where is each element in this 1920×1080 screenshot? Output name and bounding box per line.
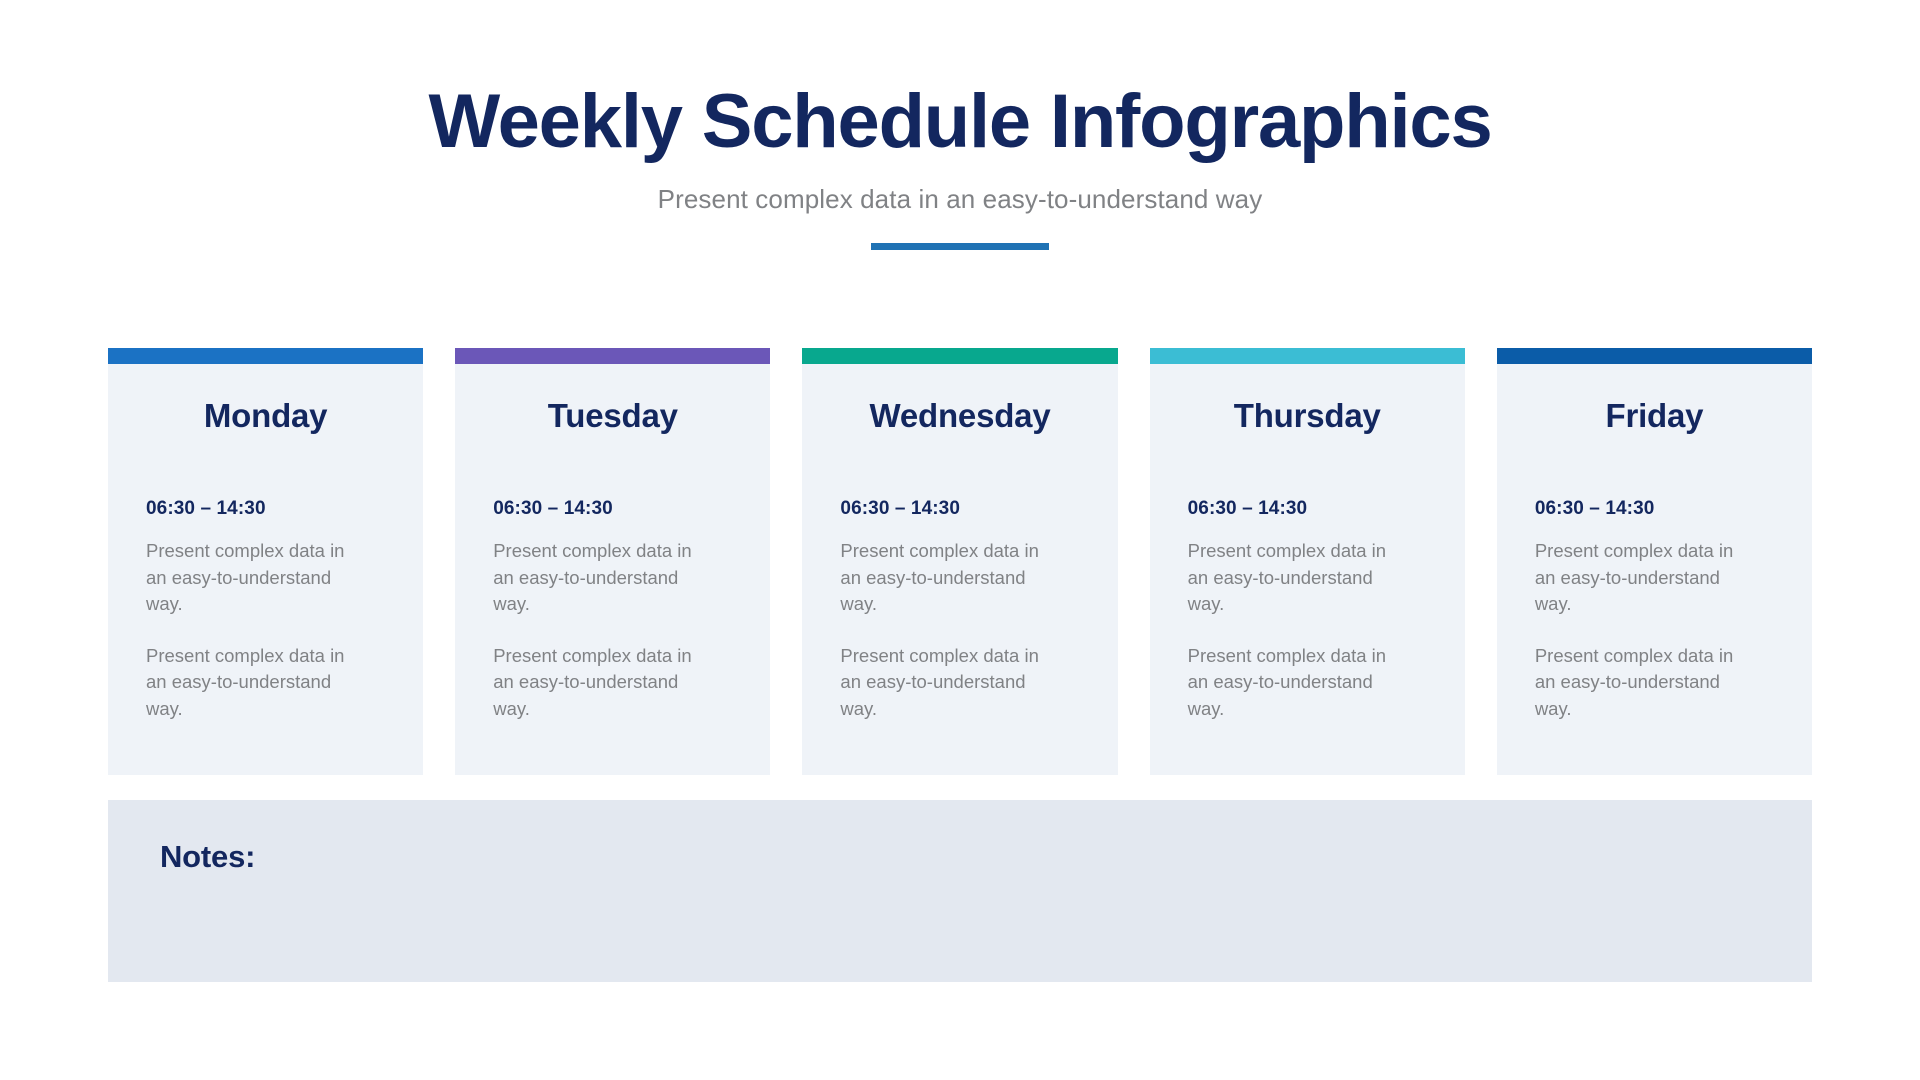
day-card-friday[interactable]: Friday 06:30 – 14:30 Present complex dat… — [1497, 348, 1812, 775]
day-note-1: Present complex data in an easy-to-under… — [493, 538, 708, 617]
day-note-2: Present complex data in an easy-to-under… — [840, 643, 1055, 722]
day-card-body: Tuesday 06:30 – 14:30 Present complex da… — [455, 364, 770, 775]
day-card-tuesday[interactable]: Tuesday 06:30 – 14:30 Present complex da… — [455, 348, 770, 775]
day-title: Friday — [1535, 396, 1774, 436]
day-cards-row: Monday 06:30 – 14:30 Present complex dat… — [108, 348, 1812, 775]
day-accent-bar — [108, 348, 423, 364]
day-note-2: Present complex data in an easy-to-under… — [1188, 643, 1403, 722]
day-accent-bar — [1150, 348, 1465, 364]
day-accent-bar — [1497, 348, 1812, 364]
slide-header: Weekly Schedule Infographics Present com… — [0, 82, 1920, 250]
day-card-monday[interactable]: Monday 06:30 – 14:30 Present complex dat… — [108, 348, 423, 775]
day-note-1: Present complex data in an easy-to-under… — [1535, 538, 1750, 617]
day-note-2: Present complex data in an easy-to-under… — [146, 643, 361, 722]
day-accent-bar — [455, 348, 770, 364]
day-time-range: 06:30 – 14:30 — [1188, 498, 1427, 521]
day-accent-bar — [802, 348, 1117, 364]
day-card-body: Wednesday 06:30 – 14:30 Present complex … — [802, 364, 1117, 775]
day-title: Wednesday — [840, 396, 1079, 436]
day-note-1: Present complex data in an easy-to-under… — [840, 538, 1055, 617]
notes-panel[interactable]: Notes: — [108, 800, 1812, 982]
day-card-wednesday[interactable]: Wednesday 06:30 – 14:30 Present complex … — [802, 348, 1117, 775]
day-note-1: Present complex data in an easy-to-under… — [1188, 538, 1403, 617]
page-subtitle: Present complex data in an easy-to-under… — [0, 184, 1920, 215]
day-note-2: Present complex data in an easy-to-under… — [1535, 643, 1750, 722]
day-card-body: Friday 06:30 – 14:30 Present complex dat… — [1497, 364, 1812, 775]
day-title: Monday — [146, 396, 385, 436]
day-card-body: Thursday 06:30 – 14:30 Present complex d… — [1150, 364, 1465, 775]
day-time-range: 06:30 – 14:30 — [1535, 498, 1774, 521]
day-time-range: 06:30 – 14:30 — [146, 498, 385, 521]
day-card-thursday[interactable]: Thursday 06:30 – 14:30 Present complex d… — [1150, 348, 1465, 775]
day-note-1: Present complex data in an easy-to-under… — [146, 538, 361, 617]
weekly-schedule-slide: Weekly Schedule Infographics Present com… — [0, 0, 1920, 1080]
day-card-body: Monday 06:30 – 14:30 Present complex dat… — [108, 364, 423, 775]
title-accent-rule — [871, 243, 1049, 250]
day-title: Thursday — [1188, 396, 1427, 436]
notes-label: Notes: — [160, 838, 1812, 875]
day-time-range: 06:30 – 14:30 — [493, 498, 732, 521]
day-note-2: Present complex data in an easy-to-under… — [493, 643, 708, 722]
day-title: Tuesday — [493, 396, 732, 436]
page-title: Weekly Schedule Infographics — [0, 82, 1920, 162]
day-time-range: 06:30 – 14:30 — [840, 498, 1079, 521]
